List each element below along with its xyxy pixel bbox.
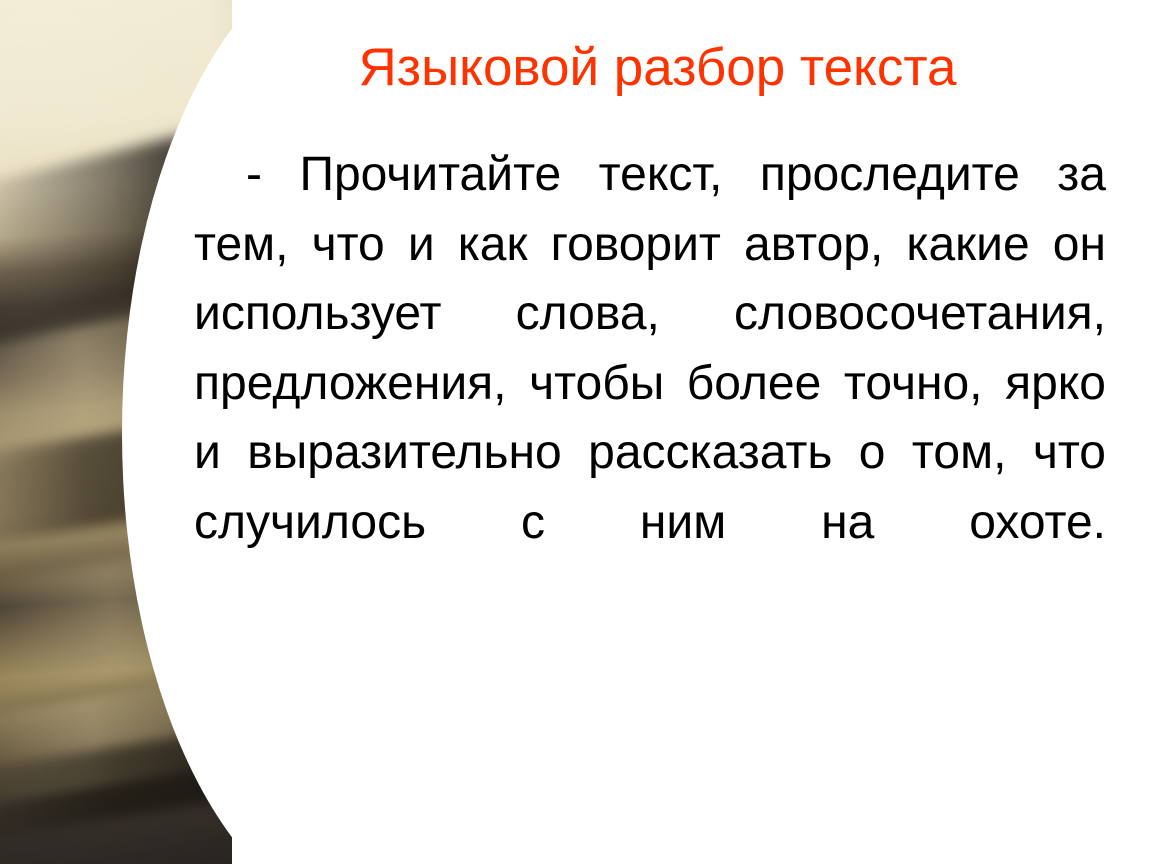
slide-canvas: Языковой разбор текста - Прочитайте текс… <box>0 0 1150 864</box>
page-title: Языковой разбор текста <box>195 37 1120 99</box>
body-paragraph: - Прочитайте текст, проследите за тем, ч… <box>194 140 1106 627</box>
slide-content: Языковой разбор текста - Прочитайте текс… <box>0 0 1150 864</box>
